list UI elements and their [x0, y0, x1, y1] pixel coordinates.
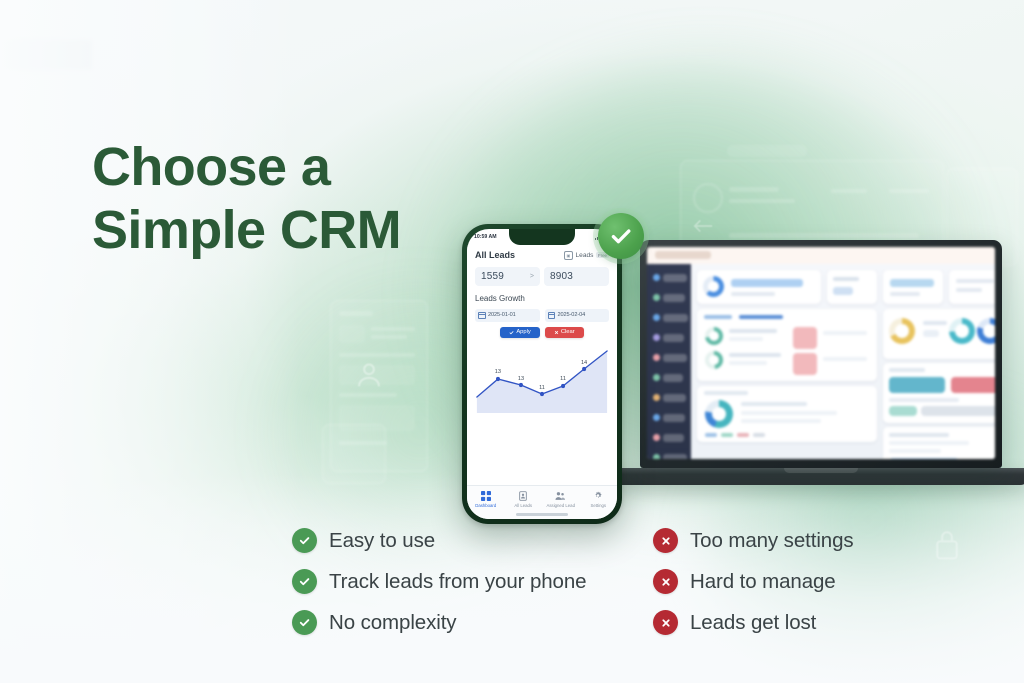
stat-card-total-leads[interactable]: 1559 >	[475, 267, 540, 286]
chart-point-label: 11	[560, 376, 566, 382]
nav-label: Assigned Lead	[547, 503, 575, 508]
chart-point-label: 13	[518, 376, 524, 382]
apply-button[interactable]: Apply	[500, 327, 540, 338]
phone-status-bar: 10:59 AM	[467, 229, 617, 245]
phone-app-content: All Leads ▣ Leads Free 1559 > 8903	[467, 245, 617, 519]
contact-card-icon	[518, 490, 529, 501]
gear-icon	[593, 490, 604, 501]
laptop-lid	[640, 240, 1002, 468]
list-item-label: Leads get lost	[690, 611, 816, 635]
chart-point-label: 13	[495, 369, 501, 375]
pros-list: Easy to use Track leads from your phone …	[292, 528, 586, 635]
laptop-screen	[647, 247, 995, 459]
leads-plan-badge[interactable]: ▣ Leads Free	[564, 251, 609, 260]
calendar-icon	[548, 312, 556, 320]
status-time: 10:59 AM	[474, 234, 497, 240]
check-icon	[509, 330, 514, 335]
nav-label: Dashboard	[475, 503, 496, 508]
date-range-row: 2025-01-01 2025-02-04	[475, 309, 609, 322]
date-to-field[interactable]: 2025-02-04	[545, 309, 610, 322]
leads-growth-chart: 13 13 11 11 14	[475, 345, 609, 415]
check-circle-badge-icon	[598, 213, 644, 259]
laptop-mockup	[640, 240, 1024, 485]
chart-area-fill	[477, 351, 607, 413]
section-title-leads-growth: Leads Growth	[475, 294, 609, 303]
phone-app-header: All Leads ▣ Leads Free	[475, 250, 609, 260]
stat-value: 8903	[550, 271, 573, 282]
home-indicator	[516, 513, 568, 516]
nav-label: All Leads	[514, 503, 532, 508]
calendar-icon	[478, 312, 486, 320]
filter-actions: Apply Clear	[475, 327, 609, 338]
chart-point-label: 14	[581, 360, 587, 366]
apply-label: Apply	[516, 329, 531, 335]
phone-stats-row: 1559 > 8903	[475, 267, 609, 286]
list-item: Too many settings	[653, 528, 854, 553]
list-item: Easy to use	[292, 528, 586, 553]
grid-icon	[480, 490, 491, 501]
laptop-topbar	[647, 247, 995, 265]
page-headline: Choose a Simple CRM	[92, 136, 401, 261]
chart-point	[582, 366, 586, 370]
chart-point	[540, 391, 544, 395]
list-item-label: Hard to manage	[690, 570, 836, 594]
list-item-label: Track leads from your phone	[329, 570, 586, 594]
nav-item-dashboard[interactable]: Dashboard	[467, 490, 505, 508]
user-group-icon	[555, 490, 566, 501]
date-from-value: 2025-01-01	[488, 312, 516, 318]
chart-point	[561, 383, 565, 387]
list-item-label: Too many settings	[690, 529, 854, 553]
date-from-field[interactable]: 2025-01-01	[475, 309, 540, 322]
chart-point	[519, 382, 523, 386]
x-circle-icon	[653, 528, 678, 553]
laptop-dashboard-content	[691, 264, 995, 459]
list-item: Leads get lost	[653, 610, 854, 635]
laptop-sidebar	[647, 264, 691, 459]
chart-point	[496, 376, 500, 380]
page-title: All Leads	[475, 250, 515, 260]
nav-label: Settings	[590, 503, 606, 508]
x-circle-icon	[653, 569, 678, 594]
list-item: Hard to manage	[653, 569, 854, 594]
phone-mockup: 10:59 AM All Leads ▣ Leads Fre	[462, 224, 622, 524]
date-to-value: 2025-02-04	[558, 312, 586, 318]
list-item: Track leads from your phone	[292, 569, 586, 594]
cons-list: Too many settings Hard to manage Leads g…	[653, 528, 854, 635]
stat-value: 1559	[481, 271, 504, 282]
list-item: No complexity	[292, 610, 586, 635]
nav-item-all-leads[interactable]: All Leads	[505, 490, 543, 508]
promotional-graphic: 10:59 AM All Leads ▣ Leads Fre	[0, 0, 1024, 683]
list-item-label: Easy to use	[329, 529, 435, 553]
stat-card-secondary[interactable]: 8903	[544, 267, 609, 286]
check-circle-icon	[292, 528, 317, 553]
list-item-label: No complexity	[329, 611, 456, 635]
clear-label: Clear	[561, 329, 575, 335]
badge-label: Leads	[576, 252, 594, 259]
chart-point-label: 11	[539, 385, 545, 391]
nav-item-assigned-lead[interactable]: Assigned Lead	[542, 490, 580, 508]
x-icon	[554, 330, 559, 335]
chart-svg	[475, 345, 609, 415]
chevron-right-icon: >	[530, 273, 534, 280]
check-circle-icon	[292, 610, 317, 635]
clear-button[interactable]: Clear	[545, 327, 584, 338]
phone-screen: 10:59 AM All Leads ▣ Leads Fre	[467, 229, 617, 519]
nav-item-settings[interactable]: Settings	[580, 490, 618, 508]
x-circle-icon	[653, 610, 678, 635]
check-circle-icon	[292, 569, 317, 594]
copy-icon: ▣	[564, 251, 573, 260]
